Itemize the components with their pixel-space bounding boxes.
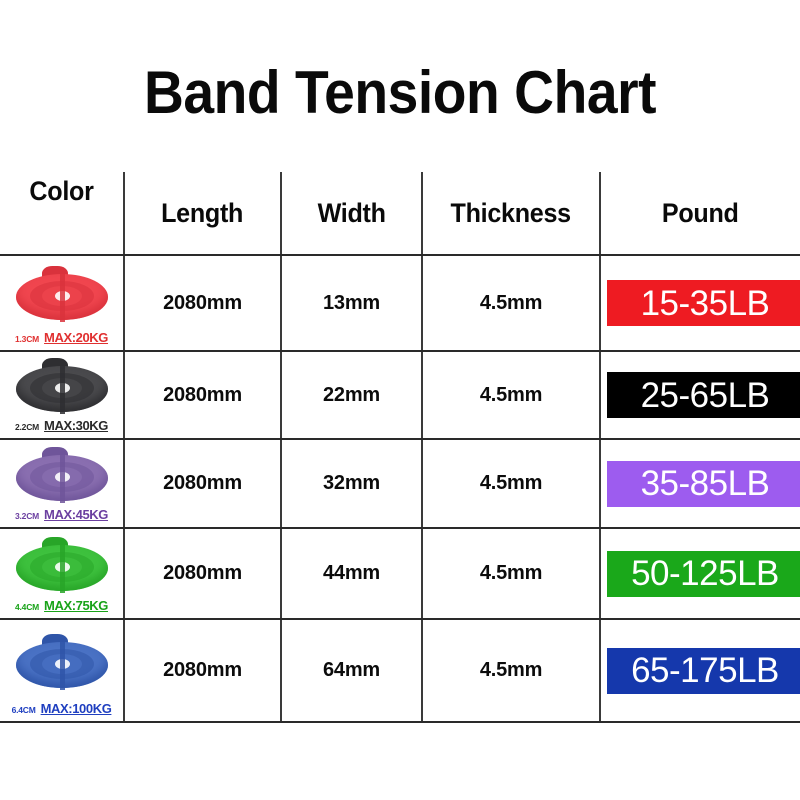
cell-length: 2080mm — [125, 440, 282, 527]
coiled-band-icon — [12, 266, 112, 324]
cell-length: 2080mm — [125, 529, 282, 618]
band-strap — [60, 638, 65, 690]
band-spec-labels: 3.2CM MAX:45KG — [0, 507, 123, 527]
cell-pound: 50-125LB — [601, 529, 800, 618]
cell-color: 1.3CM MAX:20KG — [0, 256, 125, 350]
band-width-cm-label: 6.4CM — [12, 705, 36, 715]
band-tension-table: Color Length Width Thickness Pound — [0, 172, 800, 723]
band-spec-labels: 1.3CM MAX:20KG — [0, 330, 123, 350]
column-header-length-label: Length — [161, 198, 243, 229]
thickness-value: 4.5mm — [480, 384, 542, 407]
pound-badge: 25-65LB — [607, 372, 800, 418]
cell-pound: 25-65LB — [601, 352, 800, 438]
table-header-row: Color Length Width Thickness Pound — [0, 172, 800, 256]
band-strap — [60, 451, 65, 503]
cell-color: 3.2CM MAX:45KG — [0, 440, 125, 527]
table-row-purple: 3.2CM MAX:45KG 2080mm 32mm 4.5mm 35-85LB — [0, 440, 800, 529]
cell-color: 4.4CM MAX:75KG — [0, 529, 125, 618]
cell-width: 13mm — [282, 256, 423, 350]
width-value: 13mm — [323, 292, 380, 315]
column-header-pound: Pound — [601, 172, 800, 254]
width-value: 64mm — [323, 659, 380, 682]
length-value: 2080mm — [163, 659, 242, 682]
band-max-kg-label: MAX:100KG — [41, 701, 112, 716]
coiled-band-icon — [12, 537, 112, 595]
thickness-value: 4.5mm — [480, 472, 542, 495]
cell-width: 44mm — [282, 529, 423, 618]
length-value: 2080mm — [163, 384, 242, 407]
pound-badge: 35-85LB — [607, 461, 800, 507]
cell-length: 2080mm — [125, 352, 282, 438]
cell-pound: 35-85LB — [601, 440, 800, 527]
coiled-band-icon — [12, 358, 112, 416]
pound-badge: 65-175LB — [607, 648, 800, 694]
coiled-band-icon — [12, 447, 112, 505]
length-value: 2080mm — [163, 472, 242, 495]
band-image — [8, 444, 116, 507]
band-width-cm-label: 1.3CM — [15, 334, 39, 344]
cell-thickness: 4.5mm — [423, 620, 601, 721]
length-value: 2080mm — [163, 292, 242, 315]
width-value: 22mm — [323, 384, 380, 407]
column-header-width-label: Width — [317, 198, 385, 229]
band-width-cm-label: 2.2CM — [15, 422, 39, 432]
page-title: Band Tension Chart — [32, 58, 768, 127]
band-max-kg-label: MAX:45KG — [44, 507, 108, 522]
thickness-value: 4.5mm — [480, 562, 542, 585]
cell-length: 2080mm — [125, 256, 282, 350]
band-strap — [60, 541, 65, 593]
band-width-cm-label: 3.2CM — [15, 511, 39, 521]
length-value: 2080mm — [163, 562, 242, 585]
pound-badge: 15-35LB — [607, 280, 800, 326]
cell-width: 32mm — [282, 440, 423, 527]
band-width-cm-label: 4.4CM — [15, 602, 39, 612]
width-value: 32mm — [323, 472, 380, 495]
column-header-thickness: Thickness — [423, 172, 601, 254]
cell-width: 64mm — [282, 620, 423, 721]
cell-thickness: 4.5mm — [423, 529, 601, 618]
thickness-value: 4.5mm — [480, 659, 542, 682]
band-image — [8, 356, 116, 418]
band-spec-labels: 2.2CM MAX:30KG — [0, 418, 123, 438]
table-row-blue: 6.4CM MAX:100KG 2080mm 64mm 4.5mm 65-175… — [0, 620, 800, 723]
table-row-red: 1.3CM MAX:20KG 2080mm 13mm 4.5mm 15-35LB — [0, 256, 800, 352]
column-header-thickness-label: Thickness — [451, 198, 571, 229]
coiled-band-icon — [12, 634, 112, 692]
band-max-kg-label: MAX:20KG — [44, 330, 108, 345]
band-strap — [60, 362, 65, 414]
column-header-color: Color — [0, 172, 125, 254]
band-max-kg-label: MAX:75KG — [44, 598, 108, 613]
thickness-value: 4.5mm — [480, 292, 542, 315]
cell-color: 6.4CM MAX:100KG — [0, 620, 125, 721]
cell-thickness: 4.5mm — [423, 256, 601, 350]
cell-thickness: 4.5mm — [423, 352, 601, 438]
column-header-length: Length — [125, 172, 282, 254]
table-row-black: 2.2CM MAX:30KG 2080mm 22mm 4.5mm 25-65LB — [0, 352, 800, 440]
band-image — [8, 533, 116, 598]
width-value: 44mm — [323, 562, 380, 585]
table-row-green: 4.4CM MAX:75KG 2080mm 44mm 4.5mm 50-125L… — [0, 529, 800, 620]
band-spec-labels: 6.4CM MAX:100KG — [0, 701, 123, 721]
cell-pound: 65-175LB — [601, 620, 800, 721]
column-header-color-label: Color — [29, 176, 93, 207]
band-image — [8, 260, 116, 330]
pound-badge: 50-125LB — [607, 551, 800, 597]
band-image — [8, 624, 116, 701]
band-max-kg-label: MAX:30KG — [44, 418, 108, 433]
cell-color: 2.2CM MAX:30KG — [0, 352, 125, 438]
band-spec-labels: 4.4CM MAX:75KG — [0, 598, 123, 618]
column-header-pound-label: Pound — [662, 198, 739, 229]
cell-thickness: 4.5mm — [423, 440, 601, 527]
cell-length: 2080mm — [125, 620, 282, 721]
column-header-width: Width — [282, 172, 423, 254]
band-strap — [60, 270, 65, 322]
cell-width: 22mm — [282, 352, 423, 438]
cell-pound: 15-35LB — [601, 256, 800, 350]
